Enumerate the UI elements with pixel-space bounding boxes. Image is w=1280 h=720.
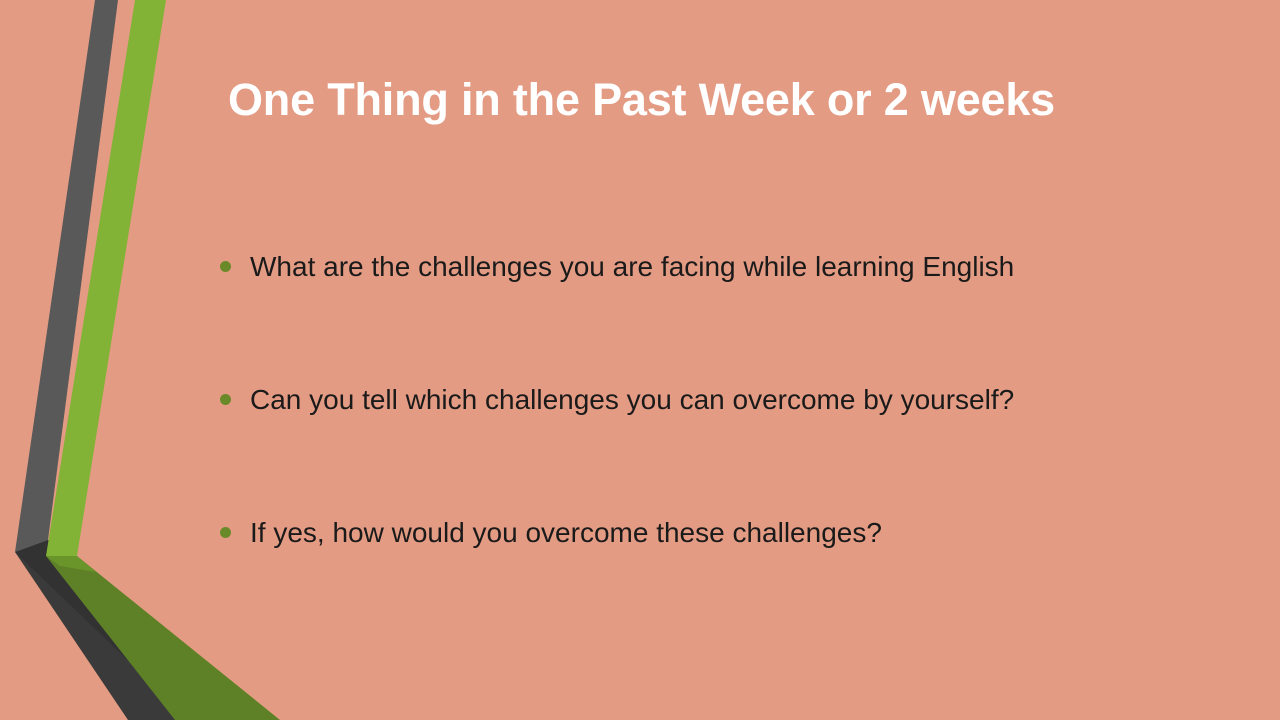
list-item: What are the challenges you are facing w… bbox=[218, 248, 1218, 381]
gray-lower-shadow bbox=[15, 540, 205, 720]
slide-body-list: What are the challenges you are facing w… bbox=[218, 248, 1218, 552]
bullet-dot-icon bbox=[220, 527, 231, 538]
slide-canvas: One Thing in the Past Week or 2 weeks Wh… bbox=[0, 0, 1280, 720]
list-item: If yes, how would you overcome these cha… bbox=[218, 514, 1218, 552]
gray-lower-ribbon bbox=[15, 540, 205, 720]
green-upper-ribbon bbox=[46, 0, 166, 556]
page-title: One Thing in the Past Week or 2 weeks bbox=[228, 72, 1128, 128]
list-item-label: Can you tell which challenges you can ov… bbox=[250, 381, 1218, 419]
green-fold-shadow bbox=[46, 556, 96, 572]
slide-title-block: One Thing in the Past Week or 2 weeks bbox=[228, 72, 1128, 152]
bullet-dot-icon bbox=[220, 394, 231, 405]
green-lower-ribbon bbox=[46, 556, 280, 720]
gray-upper-ribbon bbox=[15, 0, 118, 552]
list-item-label: What are the challenges you are facing w… bbox=[250, 248, 1218, 286]
bullet-dot-icon bbox=[220, 261, 231, 272]
list-item-label: If yes, how would you overcome these cha… bbox=[250, 514, 1218, 552]
list-item: Can you tell which challenges you can ov… bbox=[218, 381, 1218, 514]
